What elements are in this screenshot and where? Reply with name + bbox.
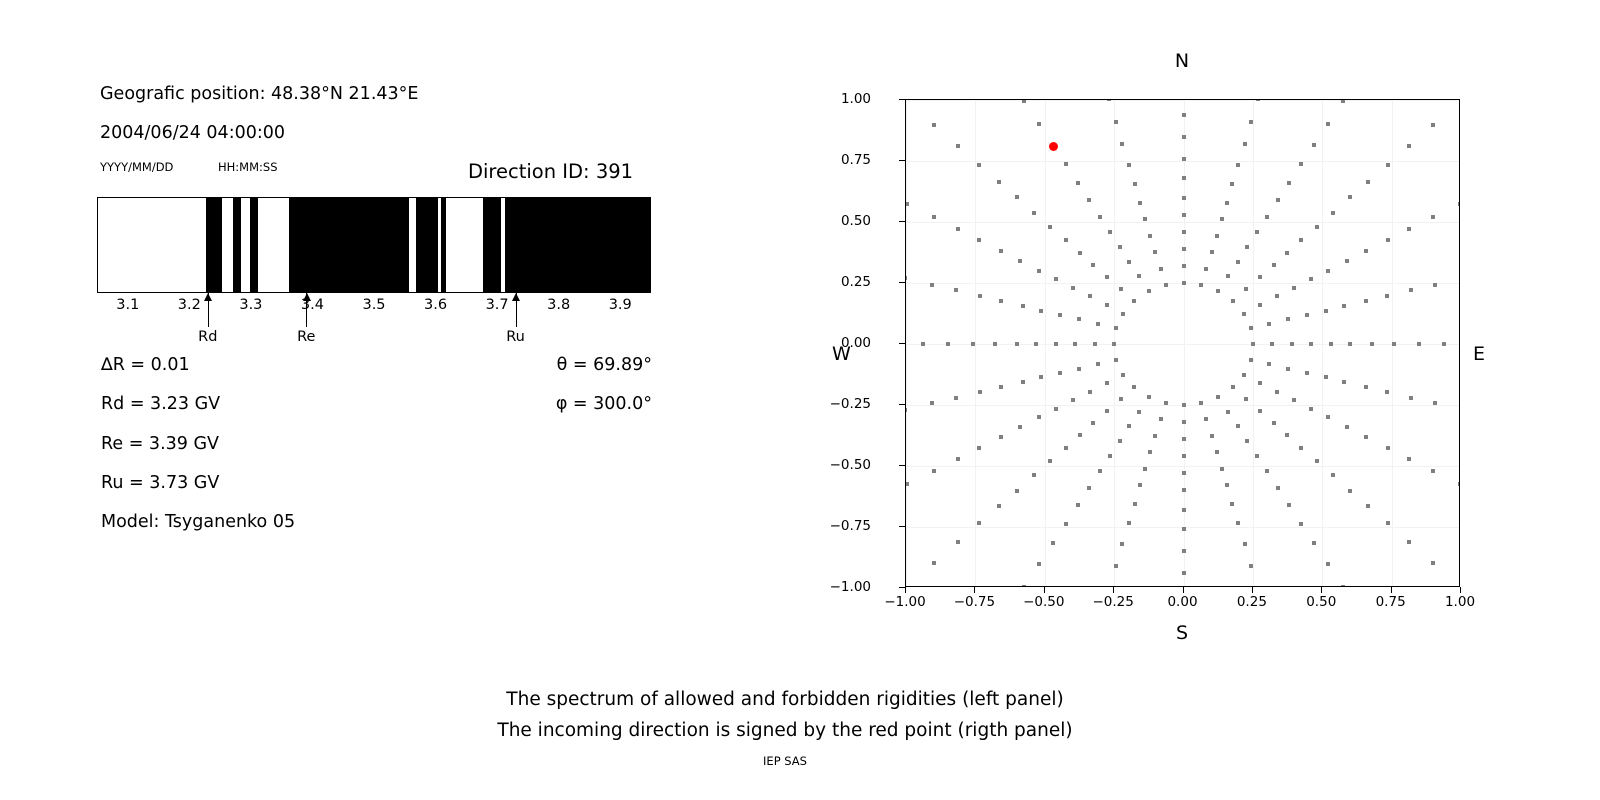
direction-dot [1433,283,1437,287]
direction-dot [1431,123,1435,127]
direction-dot [1054,407,1058,411]
direction-dot [1272,421,1276,425]
direction-dot [905,202,909,206]
y-axis-tick-label: 1.00 [841,91,871,107]
direction-dot [1287,181,1291,185]
direction-dot [977,163,981,167]
direction-dot [1342,304,1346,308]
direction-dot [1064,522,1068,526]
direction-dot [1249,564,1253,568]
direction-dot [1305,371,1309,375]
direction-dot [1386,238,1390,242]
spectrum-tick-label: 3.5 [362,297,385,313]
direction-dot [1242,373,1246,377]
direction-dot [1210,434,1214,438]
direction-dot [1215,450,1219,454]
compass-label-south: S [1176,622,1188,644]
direction-dot [1385,294,1389,298]
direction-dot [1054,277,1058,281]
direction-dot [1407,227,1411,231]
direction-dot [1345,425,1349,429]
direction-dot [956,227,960,231]
direction-dot [1147,395,1151,399]
direction-dot [1331,473,1335,477]
direction-dot [1182,471,1186,475]
direction-dot [1039,309,1043,313]
gridline-horizontal [906,222,1459,223]
direction-dot [1182,281,1186,285]
direction-dot [1407,540,1411,544]
direction-dot [1182,135,1186,139]
direction-dot [1249,326,1253,330]
direction-dot [1417,342,1421,346]
y-axis-tick-label: 0.75 [841,152,871,168]
marker-arrow-re-icon [306,293,307,327]
direction-scatter-plot [905,99,1460,587]
direction-dot [1230,502,1234,506]
direction-dot [1143,467,1147,471]
forbidden-band [250,198,258,292]
direction-dot [999,249,1003,253]
direction-dot [1366,504,1370,508]
direction-dot [1258,381,1262,385]
direction-dot [1182,549,1186,553]
direction-dot [1037,122,1041,126]
direction-dot [905,276,907,280]
y-axis-tick-label: −0.75 [830,518,871,534]
marker-label-re: Re [297,329,315,345]
direction-dot [1407,144,1411,148]
time-format-hint: HH:MM:SS [218,160,278,174]
param-ru: Ru = 3.73 GV [101,473,219,493]
direction-dot [1287,503,1291,507]
direction-dot [1138,201,1142,205]
direction-dot [1112,342,1116,346]
direction-dot [1021,380,1025,384]
direction-dot [1182,527,1186,531]
y-axis-tick-mark [899,465,905,466]
direction-dot [1226,410,1230,414]
direction-dot [954,396,958,400]
direction-dot [1037,562,1041,566]
direction-dot [1442,342,1446,346]
spectrum-tick-label: 3.2 [178,297,201,313]
direction-dot [1285,433,1289,437]
direction-dot [1037,269,1041,273]
direction-dot [946,342,950,346]
spectrum-tick-label: 3.6 [424,297,447,313]
direction-dot [978,390,982,394]
direction-dot [1276,486,1280,490]
gridline-horizontal [906,344,1459,345]
gridline-horizontal [906,161,1459,162]
direction-dot [1243,142,1247,146]
direction-dot [1386,521,1390,525]
direction-dot [1182,571,1186,575]
direction-dot [1258,409,1262,413]
direction-dot [1143,217,1147,221]
direction-dot [1244,397,1248,401]
forbidden-band [505,198,651,292]
direction-dot [1121,373,1125,377]
direction-dot [1236,521,1240,525]
direction-dot [1114,358,1118,362]
direction-dot [1267,322,1271,326]
marker-label-ru: Ru [506,329,525,345]
direction-dot [1105,275,1109,279]
direction-dot [1312,541,1316,545]
direction-dot [1182,403,1186,407]
direction-dot [1256,99,1260,101]
spectrum-bands-container [97,197,651,293]
footer-credit: IEP SAS [0,754,1570,768]
x-axis-tick-label: 0.50 [1306,594,1336,610]
direction-dot [999,435,1003,439]
direction-dot [932,215,936,219]
direction-dot [956,144,960,148]
direction-dot [1105,409,1109,413]
marker-arrow-ru-icon [516,293,517,327]
direction-dot [1078,433,1082,437]
direction-dot [1220,467,1224,471]
direction-dot [1182,437,1186,441]
y-axis-tick-mark [899,99,905,100]
direction-dot [1220,217,1224,221]
x-axis-tick-label: −0.75 [954,594,995,610]
direction-dot [1164,283,1168,287]
direction-dot [1258,275,1262,279]
direction-dot [1409,396,1413,400]
direction-dot [1148,234,1152,238]
forbidden-band [416,198,438,292]
direction-dot [905,408,907,412]
direction-dot [1225,201,1229,205]
marker-arrow-rd-icon [208,293,209,327]
direction-dot [1286,367,1290,371]
direction-dot [932,123,936,127]
direction-dot [1245,245,1249,249]
direction-dot [1137,410,1141,414]
direction-dot [1236,424,1240,428]
direction-dot [1265,215,1269,219]
direction-dot [1370,342,1374,346]
spectrum-x-axis: 3.13.23.33.43.53.63.73.83.9RdReRu [97,293,651,353]
direction-dot [1021,304,1025,308]
direction-dot [1058,371,1062,375]
direction-dot [1255,454,1259,458]
geographic-position-label: Geografic position: 48.38°N 21.43°E [100,84,418,104]
direction-dot [1342,380,1346,384]
direction-dot [1148,450,1152,454]
direction-dot [1153,434,1157,438]
direction-dot [1326,562,1330,566]
gridline-vertical [906,100,907,586]
param-phi: φ = 300.0° [556,394,652,414]
direction-dot [1433,401,1437,405]
direction-dot [1275,390,1279,394]
direction-dot [1270,342,1274,346]
direction-dot [1114,564,1118,568]
param-model: Model: Tsyganenko 05 [101,512,295,532]
y-axis-tick-label: −0.25 [830,396,871,412]
direction-dot [1204,417,1208,421]
x-axis-tick-mark [905,587,906,593]
y-axis-tick-mark [899,160,905,161]
direction-id-label: Direction ID: 391 [468,160,633,183]
direction-dot [1096,362,1100,366]
direction-dot [1015,342,1019,346]
direction-dot [1431,469,1435,473]
direction-dot [1064,446,1068,450]
direction-dot [1119,397,1123,401]
direction-dot [1087,486,1091,490]
direction-dot [1243,542,1247,546]
compass-label-east: E [1473,343,1485,365]
direction-dot [1015,489,1019,493]
direction-dot [1118,245,1122,249]
direction-dot [1132,385,1136,389]
direction-dot [956,457,960,461]
direction-dot [1108,454,1112,458]
direction-dot [1071,286,1075,290]
direction-dot [1073,342,1077,346]
direction-dot [1164,401,1168,405]
direction-dot [1018,425,1022,429]
direction-dot [1096,322,1100,326]
direction-dot [1182,488,1186,492]
direction-dot [1348,489,1352,493]
y-axis-tick-label: 0.25 [841,274,871,290]
y-axis-tick-label: 0.50 [841,213,871,229]
direction-dot [1341,99,1345,103]
y-axis-tick-mark [899,343,905,344]
direction-dot [1299,238,1303,242]
x-axis-tick-mark [1044,587,1045,593]
direction-dot [1048,225,1052,229]
param-rd: Rd = 3.23 GV [101,394,220,414]
x-axis-tick-label: 0.25 [1237,594,1267,610]
direction-dot [930,401,934,405]
x-axis-tick-label: 1.00 [1445,594,1475,610]
direction-dot [1244,287,1248,291]
direction-dot [1272,263,1276,267]
direction-dot [1331,211,1335,215]
param-theta: θ = 69.89° [557,355,652,375]
direction-dot [1077,367,1081,371]
direction-dot [1326,269,1330,273]
direction-dot [977,238,981,242]
direction-dot [1114,120,1118,124]
direction-dot [1329,342,1333,346]
direction-dot [1091,263,1095,267]
direction-dot [1309,342,1313,346]
y-axis-tick-mark [899,282,905,283]
direction-dot [1364,385,1368,389]
direction-dot [1137,274,1141,278]
direction-dot [1120,142,1124,146]
direction-dot [1159,267,1163,271]
direction-dot [1182,247,1186,251]
direction-dot [1315,459,1319,463]
caption-line-1: The spectrum of allowed and forbidden ri… [0,684,1570,715]
direction-dot [1292,286,1296,290]
direction-dot [1249,120,1253,124]
direction-dot [1364,249,1368,253]
direction-dot [1078,251,1082,255]
x-axis-tick-label: −0.50 [1023,594,1064,610]
direction-dot [1108,230,1112,234]
direction-dot [1286,317,1290,321]
direction-dot [993,342,997,346]
direction-dot [1315,225,1319,229]
direction-dot [1034,342,1038,346]
direction-dot [1267,362,1271,366]
direction-dot [1147,289,1151,293]
direction-dot [1182,264,1186,268]
direction-dot [999,385,1003,389]
x-axis-tick-mark [1460,587,1461,593]
incoming-direction-panel: N S W E −1.00−0.75−0.50−0.250.000.250.50… [820,40,1520,660]
direction-dot [1032,473,1036,477]
direction-dot [1127,521,1131,525]
direction-dot [1114,326,1118,330]
direction-dot [1118,439,1122,443]
direction-dot [1231,299,1235,303]
direction-dot [1285,251,1289,255]
spectrum-tick-label: 3.9 [609,297,632,313]
direction-dot [1088,390,1092,394]
direction-dot [999,299,1003,303]
direction-dot [1265,469,1269,473]
direction-dot [1236,260,1240,264]
direction-dot [1299,162,1303,166]
direction-dot [1251,342,1255,346]
spectrum-tick-label: 3.3 [239,297,262,313]
direction-dot [1458,482,1460,486]
spectrum-tick-label: 3.8 [547,297,570,313]
direction-dot [1098,469,1102,473]
direction-dot [1299,522,1303,526]
forbidden-band [441,198,445,292]
direction-dot [1324,309,1328,313]
direction-dot [1230,182,1234,186]
direction-dot [930,283,934,287]
y-axis-tick-label: −1.00 [830,579,871,595]
direction-dot [1182,196,1186,200]
forbidden-band [233,198,241,292]
direction-dot [1309,277,1313,281]
direction-dot [932,561,936,565]
direction-dot [1245,439,1249,443]
direction-dot [1341,585,1345,587]
direction-dot [1133,502,1137,506]
x-axis-tick-label: −0.25 [1092,594,1133,610]
direction-dot [1015,195,1019,199]
direction-dot [1054,342,1058,346]
y-axis-tick-label: −0.50 [830,457,871,473]
x-axis-tick-mark [1183,587,1184,593]
forbidden-band [289,198,410,292]
y-axis-tick-label: 0.00 [841,335,871,351]
direction-dot [1386,163,1390,167]
direction-dot [1216,395,1220,399]
x-axis-tick-label: −1.00 [884,594,925,610]
direction-dot [1107,99,1111,101]
direction-dot [1159,417,1163,421]
direction-dot [1018,259,1022,263]
direction-dot [1364,299,1368,303]
direction-dot [1132,299,1136,303]
direction-dot [1105,303,1109,307]
x-axis-tick-mark [1321,587,1322,593]
marker-label-rd: Rd [198,329,217,345]
direction-dot [1064,162,1068,166]
x-axis-tick-mark [1391,587,1392,593]
direction-dot [905,482,909,486]
direction-dot [1105,381,1109,385]
figure-caption: The spectrum of allowed and forbidden ri… [0,684,1570,746]
direction-dot [1204,267,1208,271]
direction-dot [1119,287,1123,291]
gridline-horizontal [906,466,1459,467]
direction-dot [1182,157,1186,161]
direction-dot [1093,342,1097,346]
direction-dot [1299,446,1303,450]
direction-dot [1275,294,1279,298]
direction-dot [1309,407,1313,411]
spectrum-tick-label: 3.1 [116,297,139,313]
direction-dot [1199,401,1203,405]
direction-dot [1326,122,1330,126]
direction-dot [1153,250,1157,254]
direction-dot [1324,375,1328,379]
direction-dot [1276,198,1280,202]
direction-dot [1076,503,1080,507]
direction-dot [1386,446,1390,450]
direction-dot [1210,250,1214,254]
direction-dot [1290,342,1294,346]
direction-dot [956,540,960,544]
y-axis-tick-mark [899,221,905,222]
direction-dot [1326,415,1330,419]
selected-direction-point [1049,142,1058,151]
direction-dot [1431,215,1435,219]
direction-dot [1138,483,1142,487]
direction-dot [1064,238,1068,242]
direction-dot [1236,163,1240,167]
direction-dot [1076,181,1080,185]
direction-dot [1231,385,1235,389]
direction-dot [1182,213,1186,217]
direction-dot [1087,198,1091,202]
direction-dot [1182,113,1186,117]
direction-dot [932,469,936,473]
direction-dot [1225,483,1229,487]
caption-line-2: The incoming direction is signed by the … [0,715,1570,746]
x-axis-tick-label: 0.75 [1376,594,1406,610]
direction-dot [1037,415,1041,419]
direction-dot [1216,289,1220,293]
direction-dot [1199,283,1203,287]
direction-dot [977,446,981,450]
direction-dot [1088,294,1092,298]
direction-dot [1022,99,1026,103]
direction-dot [1120,542,1124,546]
direction-dot [1032,211,1036,215]
direction-dot [1039,375,1043,379]
direction-dot [1458,202,1460,206]
param-re: Re = 3.39 GV [101,434,219,454]
